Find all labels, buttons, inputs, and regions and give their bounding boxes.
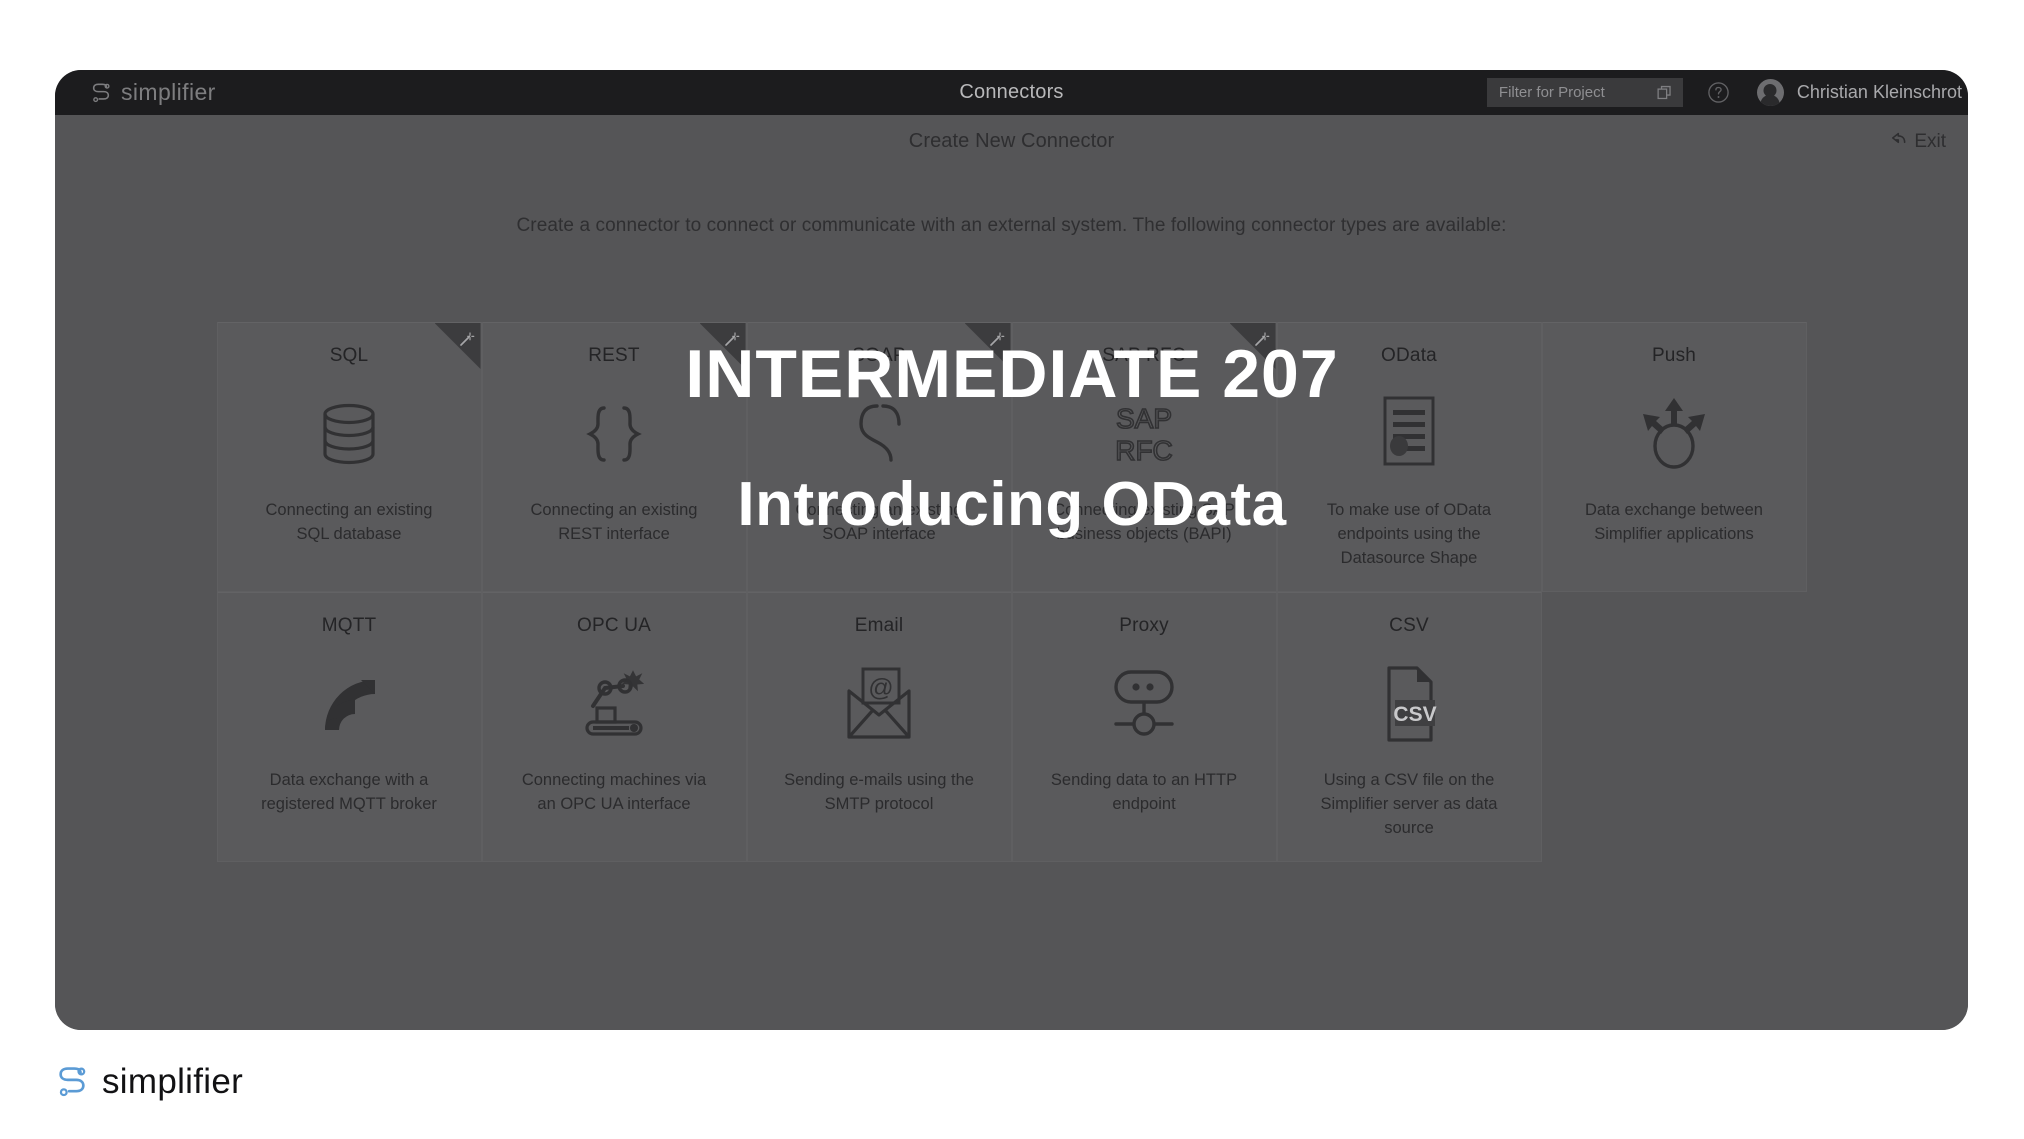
push-arrows-icon [1634,391,1714,477]
simplifier-logo-header[interactable]: simplifier [90,79,216,106]
card-title: CSV [1389,615,1429,637]
connector-selection-body: Create a connector to connect or communi… [55,168,1968,1030]
signal-waves-icon [309,661,389,747]
avatar[interactable] [1757,79,1784,106]
magic-wand-icon [723,330,741,348]
magic-wand-icon [458,330,476,348]
card-description: Data exchange with a registered MQTT bro… [249,769,449,817]
card-title: Proxy [1119,615,1169,637]
connector-card-grid: SQL Connecting an existing SQL database [217,322,1807,862]
simplifier-s-icon [90,82,112,104]
connector-card-soap[interactable]: SOAP Connecting an existing SOAP interfa… [747,322,1012,592]
connector-card-email[interactable]: Email @ Sending e-mails using the SMTP p… [747,592,1012,862]
card-title: MQTT [322,615,377,637]
odata-document-icon [1373,391,1445,477]
project-filter-input[interactable]: Filter for Project [1487,78,1683,107]
svg-text:SAP: SAP [1116,403,1172,434]
card-description: Data exchange between Simplifier applica… [1574,499,1774,547]
brand-label: simplifier [121,79,216,106]
csv-file-icon: CSV [1373,661,1445,747]
connector-card-csv[interactable]: CSV CSV Using a CSV file on the Simplifi… [1277,592,1542,862]
card-description: Sending data to an HTTP endpoint [1044,769,1244,817]
footer-brand-label: simplifier [102,1062,243,1102]
server-node-icon [1102,661,1186,747]
envelope-at-icon: @ [837,661,921,747]
card-title: OData [1381,345,1437,367]
curly-braces-icon [574,391,654,477]
svg-text:@: @ [868,674,893,702]
wizard-ribbon[interactable] [965,323,1011,369]
simplifier-logo-footer: simplifier [55,1062,243,1102]
exit-label: Exit [1914,131,1946,153]
exit-button[interactable]: Exit [1888,131,1946,153]
card-description: Using a CSV file on the Simplifier serve… [1309,769,1509,841]
soap-envelope-icon [839,391,919,477]
card-description: Connecting machines via an OPC UA interf… [514,769,714,817]
connector-card-push[interactable]: Push Data exchange between Simplifier ap… [1542,322,1807,592]
card-title: SAP RFC [1102,345,1185,367]
connector-card-odata[interactable]: OData To make use of OData endpoints usi… [1277,322,1542,592]
connector-card-opc-ua[interactable]: OPC UA Connecting mach [482,592,747,862]
intro-description: Create a connector to connect or communi… [55,215,1968,237]
magic-wand-icon [988,330,1006,348]
svg-text:CSV: CSV [1393,703,1436,726]
simplifier-s-icon [55,1065,89,1099]
connector-card-sap-rfc[interactable]: SAP RFC SAP RFC Connecting existing SAP … [1012,322,1277,592]
database-cylinder-icon [309,391,389,477]
card-title: OPC UA [577,615,651,637]
question-circle-icon[interactable] [1707,81,1730,104]
wizard-ribbon[interactable] [1230,323,1276,369]
topbar-actions: Filter for Project Christian Kleinschrot [1487,70,1968,115]
project-filter-placeholder: Filter for Project [1499,84,1605,101]
connector-card-sql[interactable]: SQL Connecting an existing SQL database [217,322,482,592]
back-arrow-icon [1888,132,1907,151]
simplifier-app-window: simplifier Connectors Filter for Project [55,70,1968,1030]
connector-card-empty-slot [1542,592,1807,862]
top-navigation-bar: simplifier Connectors Filter for Project [55,70,1968,115]
wizard-ribbon[interactable] [435,323,481,369]
connector-card-proxy[interactable]: Proxy Sending data to an HTTP endpoint [1012,592,1277,862]
card-title: Push [1652,345,1696,367]
wizard-ribbon[interactable] [700,323,746,369]
card-description: Connecting an existing SQL database [249,499,449,547]
copy-windows-icon[interactable] [1656,84,1673,101]
card-description: Connecting an existing REST interface [514,499,714,547]
card-description: Sending e-mails using the SMTP protocol [779,769,979,817]
sap-rfc-icon: SAP RFC [1101,391,1187,477]
card-description: Connecting existing SAP business objects… [1044,499,1244,547]
card-description: To make use of OData endpoints using the… [1309,499,1509,571]
svg-text:RFC: RFC [1115,435,1173,466]
username-label[interactable]: Christian Kleinschrot [1797,82,1962,103]
connector-card-rest[interactable]: REST Connecting an existing REST interfa… [482,322,747,592]
card-description: Connecting an existing SOAP interface [779,499,979,547]
card-title: SQL [330,345,369,367]
slide-canvas: simplifier Connectors Filter for Project [0,0,2024,1139]
robot-arm-icon [571,661,657,747]
sub-header: Create New Connector Exit [55,115,1968,168]
card-title: Email [855,615,904,637]
card-title: SOAP [852,345,906,367]
card-title: REST [588,345,639,367]
magic-wand-icon [1253,330,1271,348]
create-new-connector-title: Create New Connector [909,130,1114,153]
connector-card-mqtt[interactable]: MQTT Data exchange with a registered MQT… [217,592,482,862]
